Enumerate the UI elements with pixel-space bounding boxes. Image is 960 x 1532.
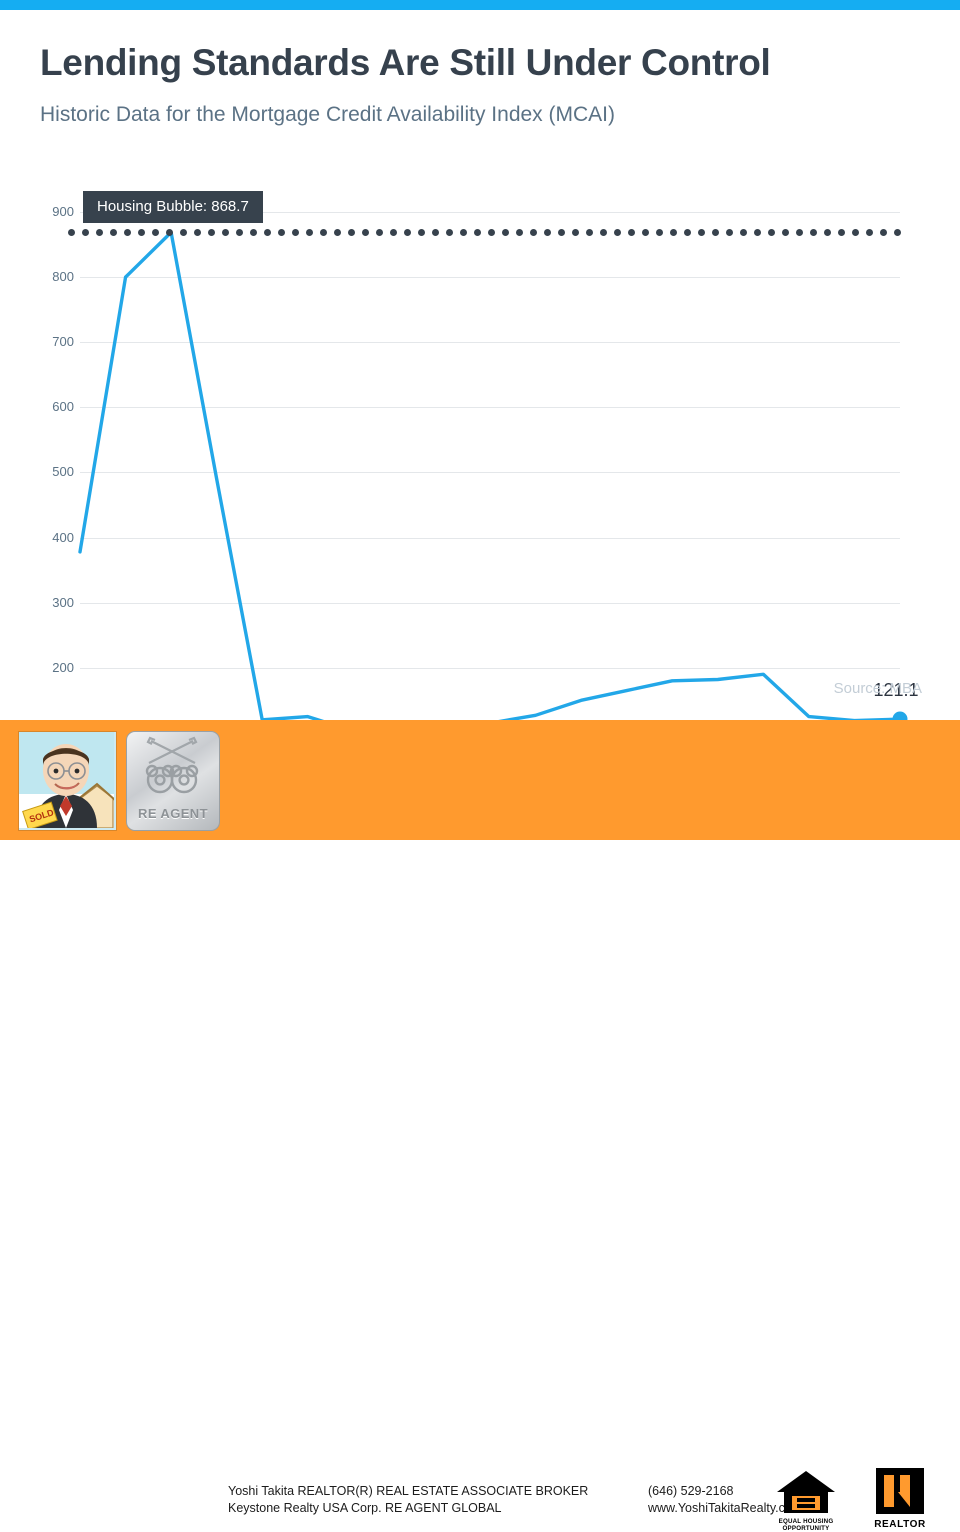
- footer-bar: SOLD RE AGENT Yoshi: [0, 720, 960, 840]
- y-axis-tick-label: 900: [18, 205, 74, 218]
- reference-line-dot: [460, 229, 467, 236]
- reference-line-dot: [334, 229, 341, 236]
- reference-line-dot: [628, 229, 635, 236]
- equal-housing-opportunity-icon: EQUAL HOUSING OPPORTUNITY: [775, 1468, 837, 1530]
- eho-line2: OPPORTUNITY: [783, 1525, 830, 1532]
- reference-line-dot: [68, 229, 75, 236]
- reference-line-dot: [852, 229, 859, 236]
- agent-contact-info: Yoshi Takita REALTOR(R) REAL ESTATE ASSO…: [228, 1483, 588, 1517]
- reference-line-dot: [754, 229, 761, 236]
- mcai-line-chart: 0100200300400500600700800900 June2004Jun…: [0, 180, 960, 680]
- reference-line-dot: [488, 229, 495, 236]
- reference-line-dot: [670, 229, 677, 236]
- y-axis-tick-label: 200: [18, 661, 74, 674]
- reference-line-dot: [558, 229, 565, 236]
- reference-line-dot: [530, 229, 537, 236]
- reference-line-dot: [110, 229, 117, 236]
- reference-line-dot: [782, 229, 789, 236]
- reference-line-dot: [152, 229, 159, 236]
- reference-line-dot: [376, 229, 383, 236]
- reference-line-dot: [446, 229, 453, 236]
- reference-line-dot: [544, 229, 551, 236]
- reference-line-dot: [82, 229, 89, 236]
- reference-line-dot: [838, 229, 845, 236]
- reference-line-dot: [418, 229, 425, 236]
- agent-name-line: Yoshi Takita REALTOR(R) REAL ESTATE ASSO…: [228, 1483, 588, 1500]
- reference-line-dot: [894, 229, 901, 236]
- y-axis-tick-label: 400: [18, 531, 74, 544]
- reference-line-dot: [390, 229, 397, 236]
- reference-line-dot: [292, 229, 299, 236]
- reference-line-dot: [796, 229, 803, 236]
- page-subtitle: Historic Data for the Mortgage Credit Av…: [40, 103, 920, 127]
- y-axis-tick-label: 600: [18, 400, 74, 413]
- agent-brokerage-line: Keystone Realty USA Corp. RE AGENT GLOBA…: [228, 1500, 588, 1517]
- reference-line-dot: [698, 229, 705, 236]
- housing-bubble-annotation: Housing Bubble: 868.7: [83, 191, 263, 223]
- reference-line-dot: [712, 229, 719, 236]
- y-axis-tick-label: 800: [18, 270, 74, 283]
- reference-line-dot: [348, 229, 355, 236]
- top-accent-bar: [0, 0, 960, 10]
- reference-line-dot: [586, 229, 593, 236]
- reference-line-dot: [194, 229, 201, 236]
- reference-line-dot: [810, 229, 817, 236]
- reference-line-dot: [404, 229, 411, 236]
- data-series-line: [80, 212, 900, 798]
- realtor-logo-text: REALTOR: [866, 1519, 934, 1530]
- reference-line-dot: [236, 229, 243, 236]
- reference-line-dot: [866, 229, 873, 236]
- reference-line-dot: [614, 229, 621, 236]
- y-axis-tick-label: 700: [18, 335, 74, 348]
- page-title: Lending Standards Are Still Under Contro…: [40, 42, 920, 84]
- reference-line-dot: [432, 229, 439, 236]
- reference-line-dot: [572, 229, 579, 236]
- realtor-logo: REALTOR: [872, 1468, 928, 1530]
- re-agent-badge-text: RE AGENT: [127, 806, 219, 821]
- source-note: Source: MBA: [834, 680, 922, 697]
- reference-line-dot: [222, 229, 229, 236]
- reference-line-dot: [250, 229, 257, 236]
- reference-line-dot: [362, 229, 369, 236]
- reference-line-dot: [278, 229, 285, 236]
- reference-line-dot: [684, 229, 691, 236]
- reference-line-dot: [306, 229, 313, 236]
- reference-line-dot: [124, 229, 131, 236]
- reference-line-dot: [138, 229, 145, 236]
- reference-line-dot: [740, 229, 747, 236]
- reference-line-dot: [726, 229, 733, 236]
- reference-line-dot: [208, 229, 215, 236]
- reference-line-dot: [656, 229, 663, 236]
- reference-line-dot: [166, 229, 173, 236]
- reference-line-dot: [96, 229, 103, 236]
- reference-line-dot: [642, 229, 649, 236]
- plot-area: 0100200300400500600700800900 June2004Jun…: [80, 212, 900, 798]
- housing-bubble-reference-line: [68, 229, 912, 237]
- reference-line-dot: [516, 229, 523, 236]
- reference-line-dot: [880, 229, 887, 236]
- reference-line-dot: [768, 229, 775, 236]
- reference-line-dot: [474, 229, 481, 236]
- agent-avatar: SOLD: [18, 731, 117, 831]
- eho-text: EQUAL HOUSING OPPORTUNITY: [767, 1518, 845, 1532]
- reference-line-dot: [320, 229, 327, 236]
- re-agent-badge: RE AGENT: [126, 731, 220, 831]
- reference-line-dot: [264, 229, 271, 236]
- y-axis-tick-label: 300: [18, 596, 74, 609]
- reference-line-dot: [502, 229, 509, 236]
- eho-line1: EQUAL HOUSING: [779, 1518, 834, 1525]
- reference-line-dot: [600, 229, 607, 236]
- reference-line-dot: [824, 229, 831, 236]
- y-axis-tick-label: 500: [18, 465, 74, 478]
- reference-line-dot: [180, 229, 187, 236]
